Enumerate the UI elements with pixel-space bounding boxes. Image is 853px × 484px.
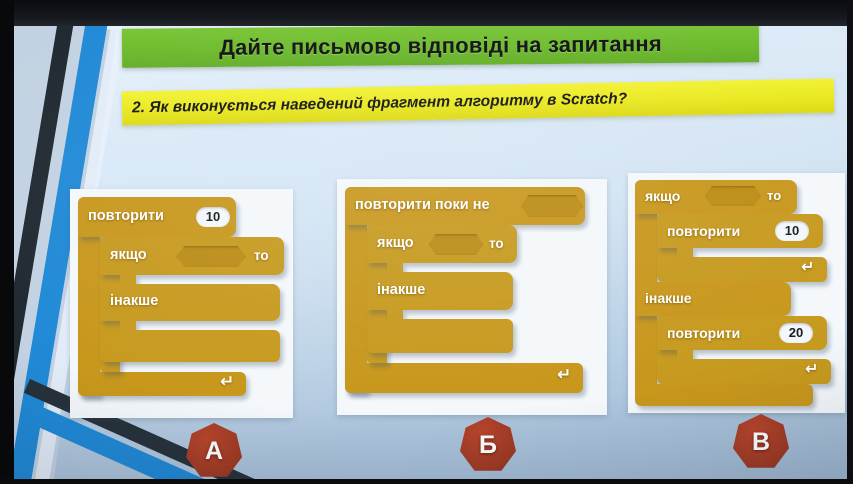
if-label-c: якщо	[645, 188, 680, 204]
block-notch	[357, 187, 375, 191]
else-label-c: інакше	[645, 290, 692, 306]
repeat-label-c1: повторити	[667, 223, 740, 239]
screen-bezel-top	[0, 0, 853, 26]
screen-bezel-bottom	[0, 479, 853, 484]
option-card-c[interactable]: якщо то повторити 10 ↵ інакше повторити …	[628, 173, 845, 413]
if-body-slot-a	[120, 275, 136, 284]
block-notch	[90, 197, 108, 201]
slide-title-banner: Дайте письмово відповіді на запитання	[122, 23, 759, 68]
else-label-b: інакше	[377, 282, 425, 298]
scratch-script-a: повторити 10 ↵ якщо то інакше	[78, 197, 284, 409]
if-label-b: якщо	[377, 235, 414, 251]
then-label-a: то	[254, 248, 269, 263]
condition-hex-slot-a[interactable]	[176, 246, 246, 267]
ifelse-block-a-foot	[100, 330, 280, 362]
loop-arrow-icon: ↵	[220, 372, 234, 392]
loop-arrow-icon: ↵	[801, 257, 814, 277]
scratch-script-c: якщо то повторити 10 ↵ інакше повторити …	[635, 180, 838, 406]
repeat-count-c2[interactable]: 20	[779, 323, 813, 343]
projected-slide-photo: Дайте письмово відповіді на запитання 2.…	[0, 0, 853, 484]
repeat-body-slot-c2	[677, 350, 693, 359]
repeat-label-c2: повторити	[667, 325, 740, 341]
slide-title-text: Дайте письмово відповіді на запитання	[122, 23, 759, 68]
screen-bezel-right	[847, 0, 853, 484]
if-label-a: якщо	[110, 247, 147, 263]
condition-hex-slot-c[interactable]	[705, 186, 761, 206]
condition-hex-slot-until-b[interactable]	[521, 195, 583, 217]
condition-hex-slot-b[interactable]	[429, 234, 483, 255]
then-label-b: то	[489, 236, 504, 251]
if-body-slot-b	[387, 263, 403, 272]
ifelse-block-b-foot	[367, 319, 513, 353]
loop-arrow-icon: ↵	[557, 365, 571, 385]
repeat-body-slot-c1	[677, 248, 693, 257]
repeat-until-label-b: повторити поки не	[355, 197, 490, 213]
repeat-label-a: повторити	[88, 208, 164, 224]
else-body-slot-b	[387, 310, 403, 319]
screen-bezel-left	[0, 0, 14, 484]
else-body-slot-a	[120, 321, 136, 330]
repeat-until-block-b-foot	[345, 363, 583, 393]
repeat-count-a[interactable]: 10	[196, 207, 230, 227]
then-label-c: то	[767, 188, 781, 203]
loop-arrow-icon: ↵	[805, 359, 818, 379]
ifelse-block-c-foot	[635, 384, 813, 406]
else-label-a: інакше	[110, 293, 158, 309]
scratch-script-b: повторити поки не ↵ якщо то інакше	[345, 187, 599, 407]
option-card-a[interactable]: повторити 10 ↵ якщо то інакше	[70, 189, 293, 418]
option-card-b[interactable]: повторити поки не ↵ якщо то інакше	[337, 179, 607, 415]
repeat-count-c1[interactable]: 10	[775, 221, 809, 241]
block-notch	[647, 180, 665, 184]
